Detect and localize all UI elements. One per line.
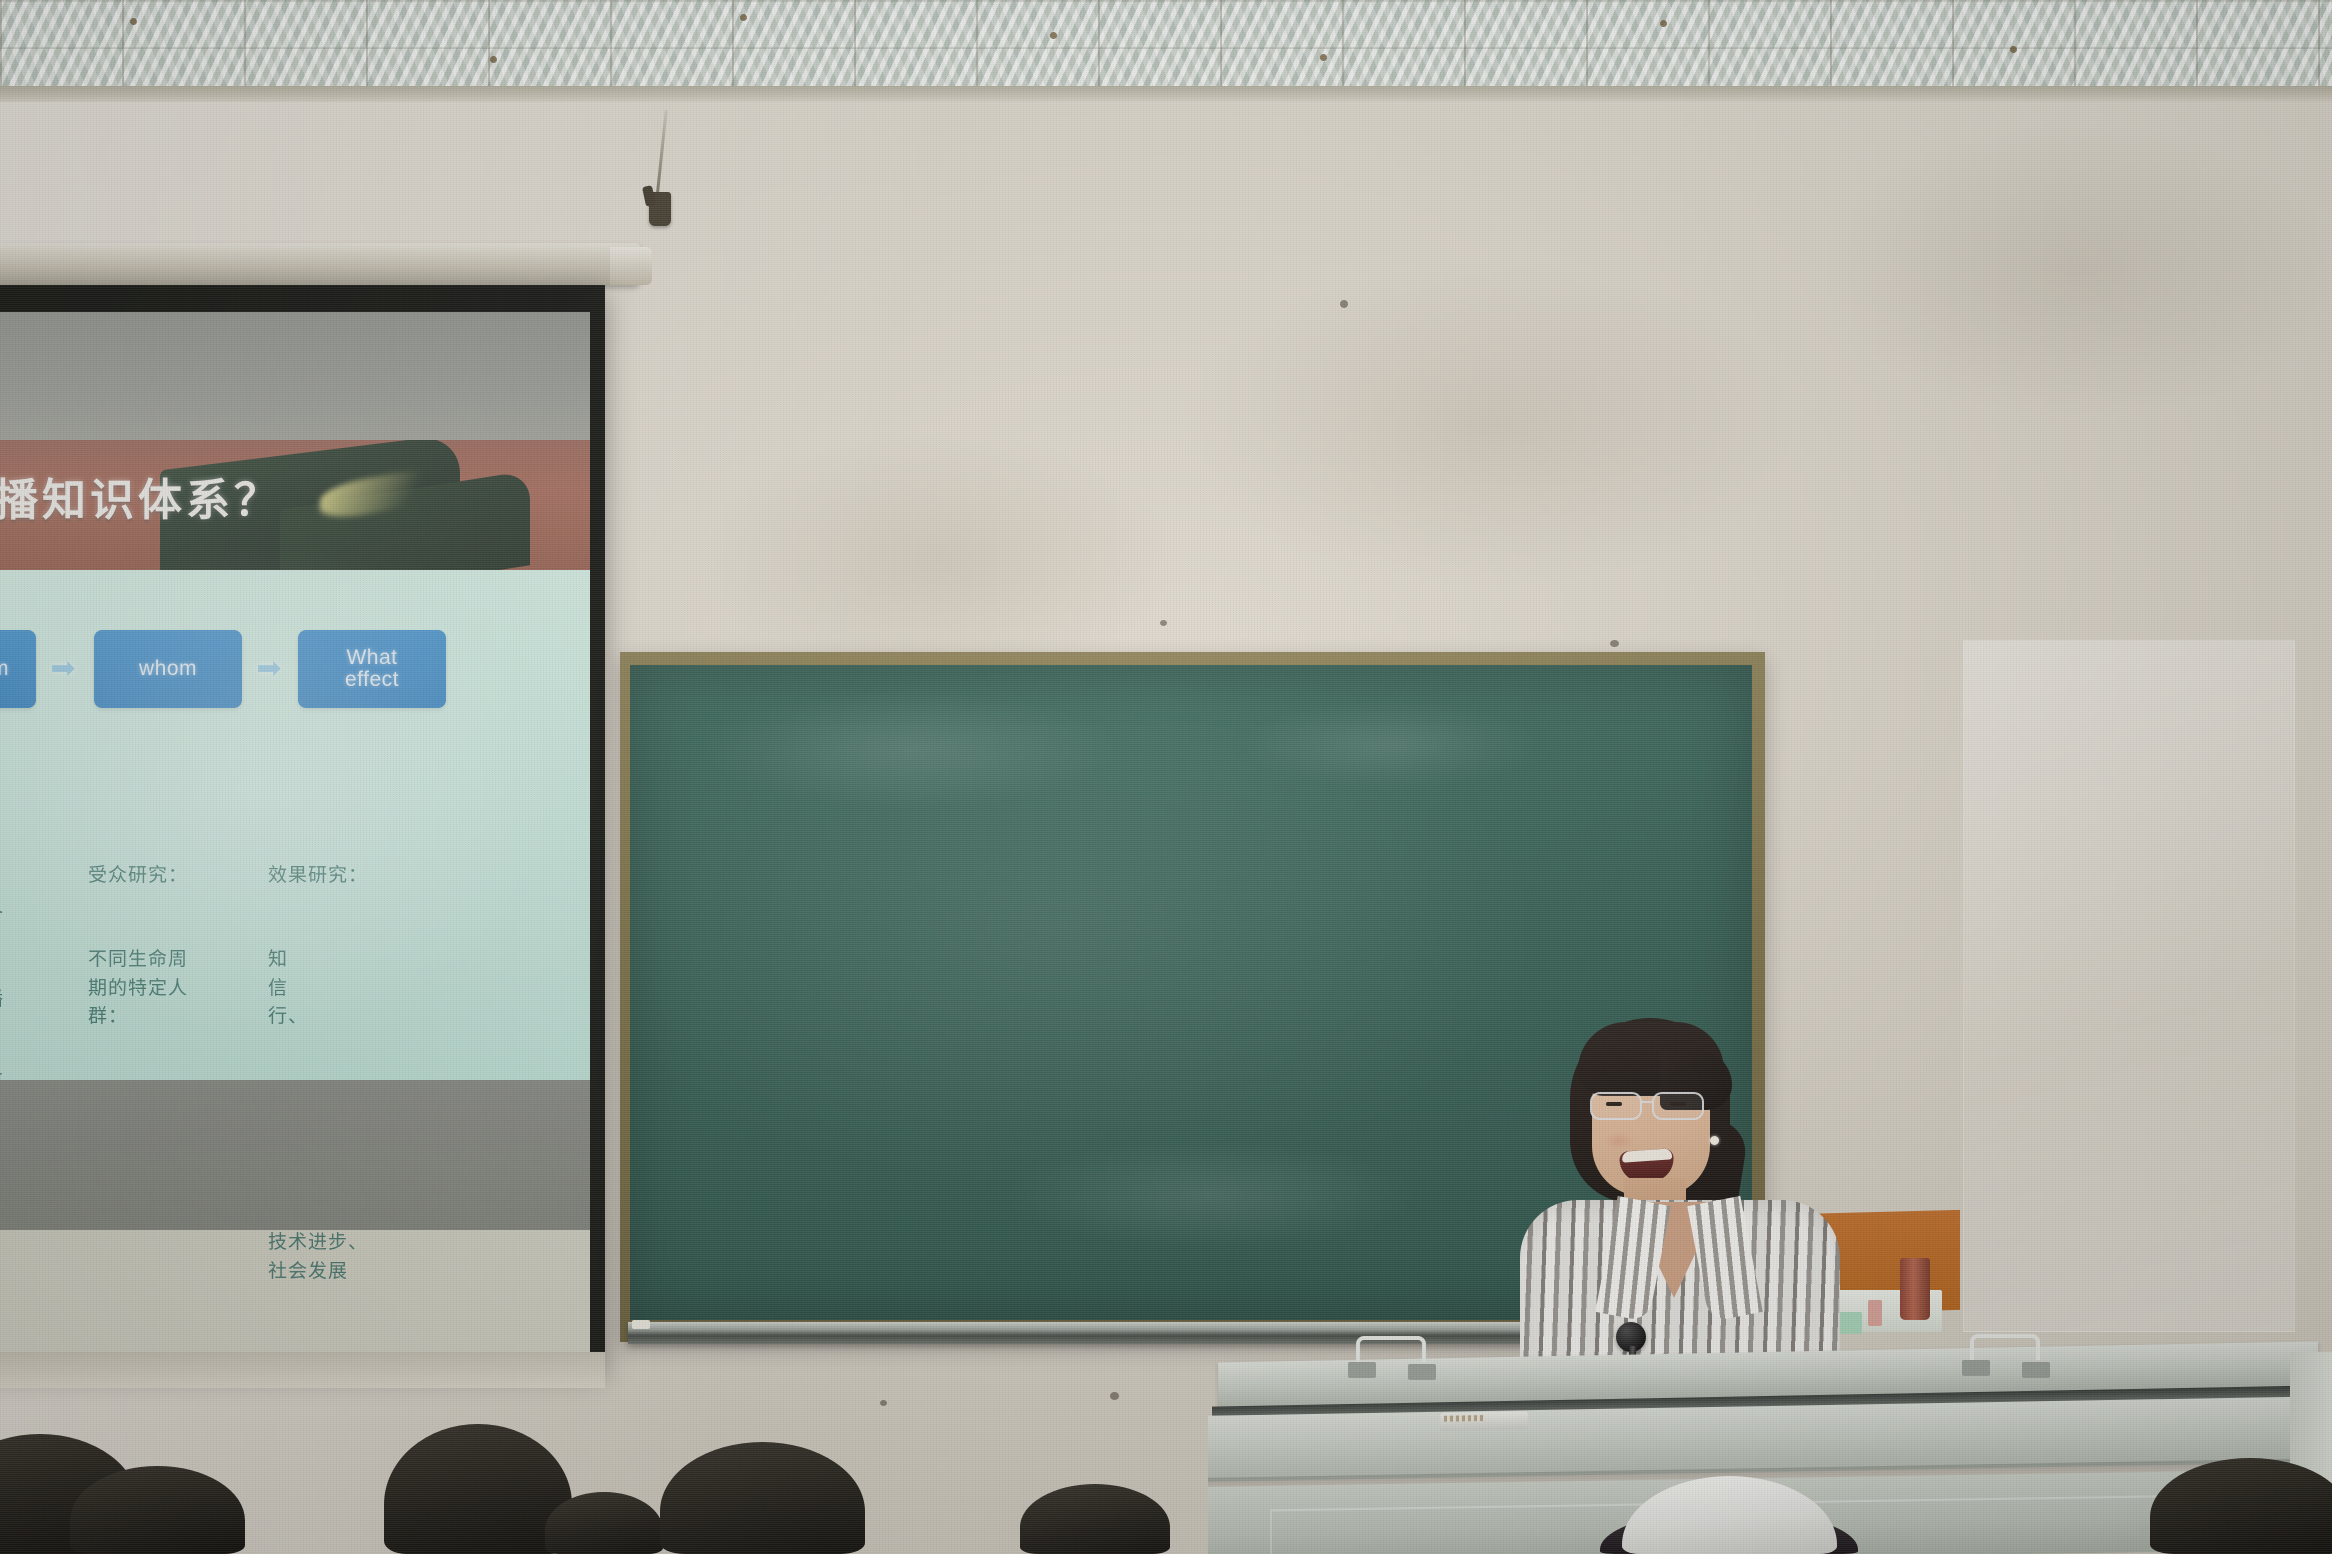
- presenter-cheek: [1604, 1132, 1634, 1150]
- wall-speck: [1610, 640, 1619, 647]
- slide-flow-row: m ➡ whom ➡ What effect: [0, 630, 590, 716]
- glasses-bridge: [1640, 1101, 1654, 1103]
- ceiling-nail: [130, 18, 137, 25]
- slide-column-lines: 介: [0, 901, 12, 930]
- slide-column-paragraph: 不同生命周 期的特定人 群：: [88, 945, 218, 1032]
- lectern-handle-right[interactable]: [1970, 1334, 2040, 1360]
- glasses-lens-right: [1652, 1092, 1704, 1120]
- wall-panel-whiteboard: [1963, 640, 2295, 1332]
- slide-top-band: [0, 312, 590, 442]
- lectern-handle-base: [2022, 1362, 2050, 1378]
- slide-bottom-band: [0, 1080, 590, 1230]
- slide-column-paragraph: 技术进步、 社会发展: [268, 1228, 386, 1286]
- chevron-right-icon: ➡: [48, 654, 78, 684]
- slide-column-heading: 效果研究：: [268, 861, 386, 890]
- lectern-handle-base: [1348, 1362, 1376, 1378]
- lectern-handle-left[interactable]: [1356, 1336, 1426, 1362]
- ceiling-nail: [2010, 46, 2017, 53]
- earring: [1710, 1136, 1719, 1145]
- flow-box-label: m: [0, 658, 9, 680]
- slide-column-paragraph: 知 信 行、: [268, 945, 386, 1032]
- slide-column-lines: 播: [0, 985, 12, 1014]
- desk-item-pink: [1868, 1300, 1882, 1326]
- flow-box-1: whom: [94, 630, 242, 708]
- presenter-eye-right: [1670, 1102, 1686, 1106]
- flow-box-2: What effect: [298, 630, 446, 708]
- wall-speck: [1340, 300, 1348, 308]
- chevron-right-icon: ➡: [254, 654, 284, 684]
- presenter-eye-left: [1606, 1102, 1622, 1106]
- slide-column-lines: 目: [0, 1236, 12, 1265]
- chalk-stick: [632, 1320, 650, 1329]
- cup: [1900, 1258, 1930, 1320]
- ceiling-edge-trim: [0, 86, 2332, 102]
- classroom-photo: 播知识体系？ m ➡ whom ➡ What effect 介 播 研 的 目 …: [0, 0, 2332, 1554]
- remote-control[interactable]: [1440, 1411, 1528, 1431]
- lectern-handle-base: [1962, 1360, 1990, 1376]
- ceiling-nail: [1050, 32, 1057, 39]
- screen-housing-cap: [610, 247, 652, 285]
- flow-box-label: What effect: [345, 647, 399, 691]
- slide-title: 播知识体系？: [0, 464, 282, 528]
- ceiling-nail: [1660, 20, 1667, 27]
- flow-box-label: whom: [139, 658, 197, 680]
- ceiling-nail: [1320, 54, 1327, 61]
- slide-column-heading: 受众研究：: [88, 861, 218, 890]
- screen-bottom-edge: [0, 1352, 605, 1388]
- presenter: [1520, 1000, 1840, 1380]
- screen-housing: [0, 243, 640, 285]
- wall-speck: [1110, 1392, 1119, 1400]
- wall-speck: [1160, 620, 1167, 626]
- glasses-lens-left: [1590, 1092, 1642, 1120]
- glasses-icon: [1586, 1092, 1716, 1118]
- projection-screen: 播知识体系？ m ➡ whom ➡ What effect 介 播 研 的 目 …: [0, 312, 590, 1352]
- flow-box-0: m: [0, 630, 36, 708]
- ceiling-nail: [490, 56, 497, 63]
- ceiling-nail: [740, 14, 747, 21]
- presenter-hair-front: [1578, 1022, 1724, 1096]
- ceiling-tile-grid: [0, 0, 2332, 96]
- wall-hook-icon: [649, 192, 671, 226]
- lectern-handle-base: [1408, 1364, 1436, 1380]
- wall-speck: [880, 1400, 887, 1406]
